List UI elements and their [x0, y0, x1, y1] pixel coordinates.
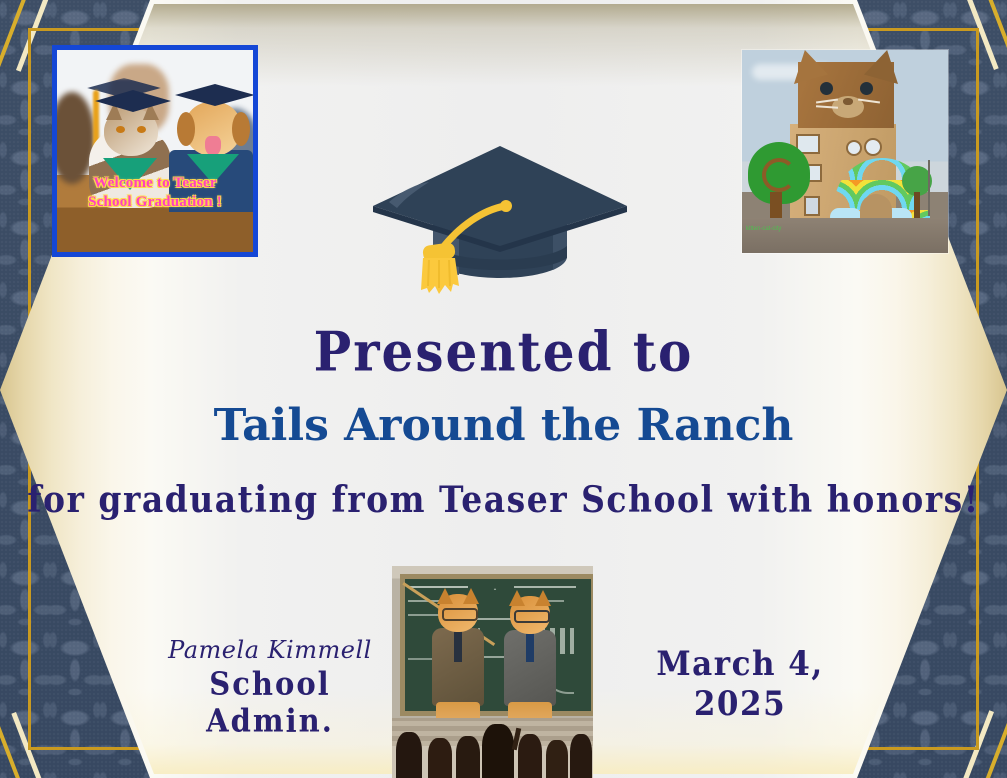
- ground-plane: [742, 218, 948, 253]
- building-cat-eye-left-icon: [820, 82, 833, 95]
- student-kitten-4: [482, 724, 514, 778]
- photo-cat-building: kitten-cat-city: [742, 50, 948, 253]
- student-kitten-2: [428, 738, 452, 778]
- chalk-equation-row-5: [514, 586, 576, 588]
- dog-mortarboard-icon: [175, 84, 255, 106]
- cat-eye-right-icon: [137, 126, 146, 133]
- teacher-cat-left-glasses-icon: [442, 608, 478, 621]
- cartoon-tree-left-swirl: [762, 158, 796, 192]
- signature-name: Pamela Kimmell: [145, 636, 395, 664]
- recipient-name: Tails Around the Ranch: [0, 400, 1007, 451]
- chalk-equation-row-1: [408, 586, 468, 588]
- student-kitten-7: [570, 734, 592, 778]
- signature-title: School Admin.: [145, 665, 395, 740]
- graduation-scene: Welcome to Teaser School Graduation !: [57, 50, 253, 252]
- achievement-line: for graduating from Teaser School with h…: [0, 478, 1007, 521]
- student-kitten-6: [546, 740, 568, 778]
- building-window-e: [846, 140, 862, 156]
- certificate-canvas: Welcome to Teaser School Graduation !: [0, 0, 1007, 778]
- cartoon-tree-right-trunk: [914, 192, 920, 218]
- dog-ear-right-icon: [232, 112, 250, 146]
- building-cat-nose-icon: [843, 98, 853, 105]
- presented-to-heading: Presented to: [0, 320, 1007, 384]
- teacher-cat-right-glasses-icon: [514, 610, 550, 623]
- building-window-c: [804, 196, 820, 216]
- dog-tongue-icon: [205, 136, 221, 156]
- dog-ear-left-icon: [177, 112, 195, 146]
- certificate-date: March 4, 2025: [610, 644, 870, 723]
- student-kitten-5: [518, 734, 542, 778]
- signature-block: Pamela Kimmell School Admin.: [145, 636, 395, 736]
- graduation-cap-icon: [355, 118, 645, 303]
- teacher-cat-left-tie: [454, 632, 462, 662]
- photo-classroom-cats: [392, 566, 593, 778]
- teacher-cat-right-tie: [526, 634, 534, 662]
- photo-overlay-caption: Welcome to Teaser School Graduation !: [57, 174, 253, 212]
- student-kitten-1: [396, 732, 422, 778]
- building-cat-eye-right-icon: [860, 82, 873, 95]
- photo-graduating-pets: Welcome to Teaser School Graduation !: [52, 45, 258, 257]
- building-window-d: [864, 138, 882, 156]
- student-kitten-3: [456, 736, 480, 778]
- cat-eye-left-icon: [116, 126, 125, 133]
- utility-pole: [928, 160, 930, 216]
- photo-watermark: kitten-cat-city: [746, 226, 781, 232]
